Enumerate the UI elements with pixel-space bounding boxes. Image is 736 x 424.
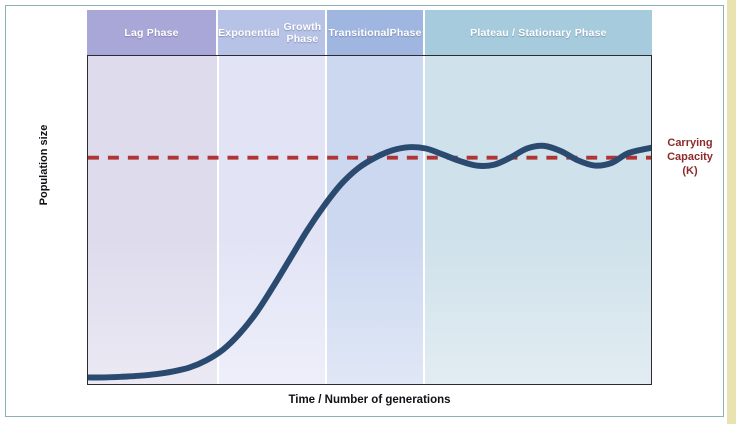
phase-header-2: ExponentialGrowth Phase [218, 10, 327, 55]
carrying-capacity-label-line3: (K) [659, 164, 721, 178]
phase-header-band: Lag PhaseExponentialGrowth PhaseTransiti… [87, 10, 652, 55]
phase-header-label-line: Transitional [328, 27, 389, 39]
carrying-capacity-label: Carrying Capacity (K) [659, 136, 721, 178]
figure-container: Lag PhaseExponentialGrowth PhaseTransiti… [0, 0, 736, 424]
plot-area [87, 55, 652, 385]
phase-header-4: Plateau / Stationary Phase [425, 10, 652, 55]
phase-header-label-line: Exponential [218, 27, 280, 39]
y-axis-title: Population size [38, 125, 50, 206]
phase-header-3: TransitionalPhase [327, 10, 425, 55]
phase-header-label-line: Plateau / Stationary Phase [470, 27, 607, 39]
population-curve [88, 146, 651, 378]
carrying-capacity-label-line1: Carrying [659, 136, 721, 150]
right-edge-strip [727, 0, 736, 424]
carrying-capacity-label-line2: Capacity [659, 150, 721, 164]
phase-header-label-line: Growth Phase [280, 21, 325, 45]
phase-header-label-line: Lag Phase [124, 27, 178, 39]
x-axis-title: Time / Number of generations [87, 394, 652, 406]
growth-curve-svg [88, 56, 651, 384]
phase-header-label-line: Phase [390, 27, 422, 39]
phase-header-1: Lag Phase [87, 10, 218, 55]
